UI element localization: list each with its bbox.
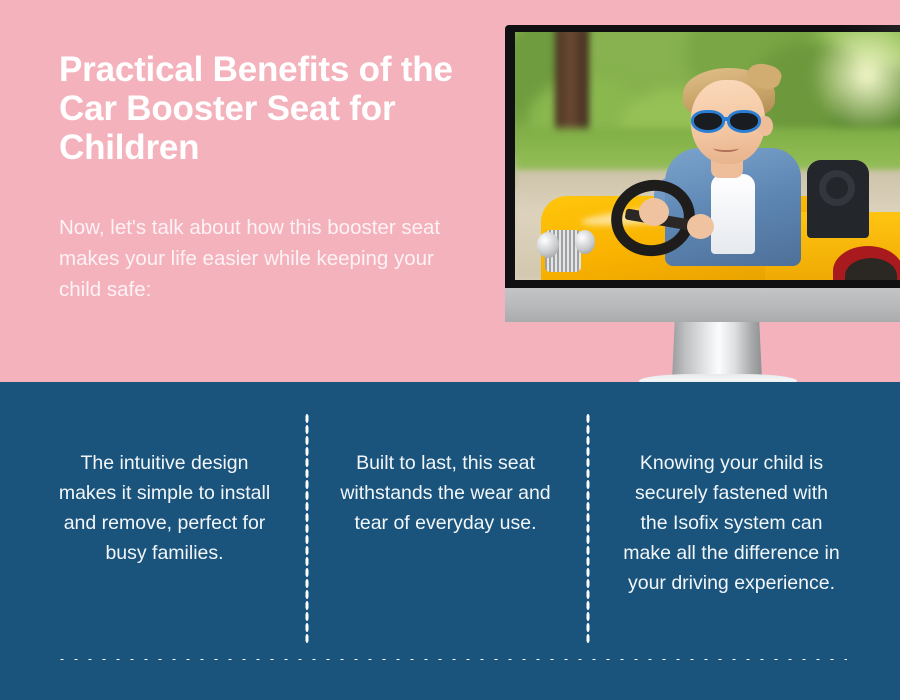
car-headlight xyxy=(537,232,559,258)
child-white-shirt xyxy=(711,174,755,254)
vertical-dotted-divider xyxy=(305,413,309,645)
horizontal-dotted-divider xyxy=(55,657,847,662)
child-hand xyxy=(687,214,714,239)
benefit-column-3: Knowing your child is securely fastened … xyxy=(619,448,844,598)
infographic-poster: Practical Benefits of the Car Booster Se… xyxy=(0,0,900,700)
car-headlight xyxy=(575,230,595,254)
monitor-chin xyxy=(505,288,900,322)
page-title: Practical Benefits of the Car Booster Se… xyxy=(59,50,479,167)
sunglasses-right-lens xyxy=(727,110,761,133)
top-pink-section: Practical Benefits of the Car Booster Se… xyxy=(0,0,900,382)
bottom-blue-section: The intuitive design makes it simple to … xyxy=(0,382,900,700)
intro-paragraph: Now, let's talk about how this booster s… xyxy=(59,212,471,305)
benefits-columns: The intuitive design makes it simple to … xyxy=(0,382,900,700)
monitor-screen xyxy=(515,32,900,280)
child-smile xyxy=(713,144,739,152)
car-seat-cutout xyxy=(819,170,855,206)
screen-photo-child-in-toy-car xyxy=(515,32,900,280)
blue-sunglasses-icon xyxy=(691,110,771,134)
monitor-stand-neck xyxy=(672,322,762,380)
benefit-column-1: The intuitive design makes it simple to … xyxy=(57,448,272,568)
child-hand xyxy=(639,198,669,226)
benefit-column-2: Built to last, this seat withstands the … xyxy=(338,448,553,538)
vertical-dotted-divider xyxy=(586,413,590,645)
sunglasses-left-lens xyxy=(691,110,725,133)
